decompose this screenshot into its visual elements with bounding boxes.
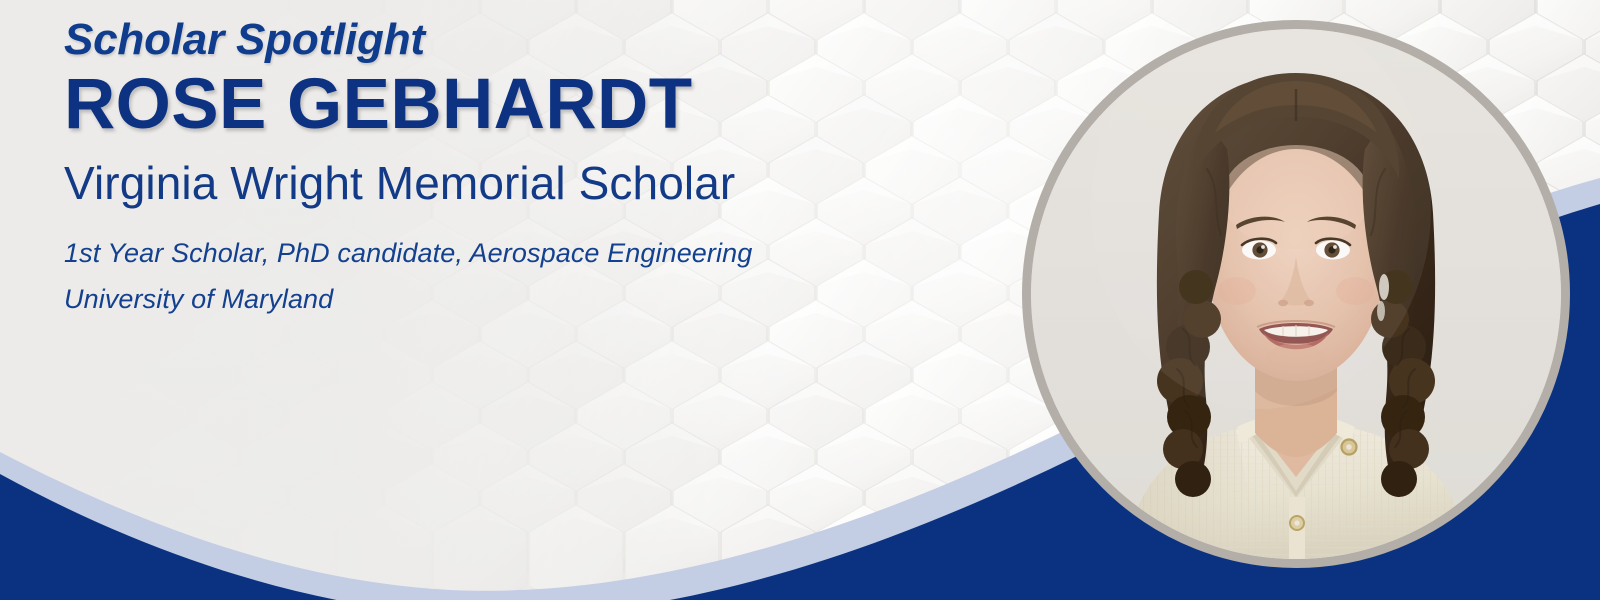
detail-line-program: 1st Year Scholar, PhD candidate, Aerospa…: [64, 230, 964, 276]
text-block: Scholar Spotlight ROSE GEBHARDT Virginia…: [64, 14, 964, 323]
detail-line-institution: University of Maryland: [64, 276, 964, 322]
portrait-photo: [1031, 29, 1561, 559]
scholar-spotlight-banner: Scholar Spotlight ROSE GEBHARDT Virginia…: [0, 0, 1600, 600]
award-title: Virginia Wright Memorial Scholar: [64, 156, 964, 211]
scholar-portrait: [1022, 20, 1570, 568]
eyebrow-label: Scholar Spotlight: [64, 14, 964, 66]
scholar-name-heading: ROSE GEBHARDT: [64, 68, 964, 143]
